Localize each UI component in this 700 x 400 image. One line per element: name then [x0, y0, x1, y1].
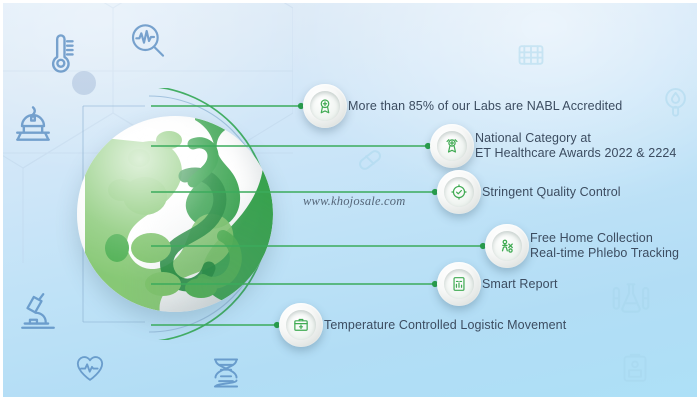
- feature-badge-nabl[interactable]: [303, 84, 347, 128]
- clipboard-report-icon: [618, 351, 652, 385]
- feature-label-nabl: More than 85% of our Labs are NABL Accre…: [348, 99, 622, 114]
- feature-badge-temperature-logistics[interactable]: [279, 303, 323, 347]
- bunsen-burner-icon: [11, 103, 55, 147]
- feature-label-smart-report: Smart Report: [482, 277, 558, 292]
- feature-badge-smart-report[interactable]: [437, 262, 481, 306]
- feature-badge-home-collection[interactable]: [485, 224, 529, 268]
- temperature-controlled-box-icon: [286, 310, 316, 340]
- feature-label-quality: Stringent Quality Control: [482, 185, 621, 200]
- home-collection-phlebo-icon: [492, 231, 522, 261]
- dna-helix-icon: [208, 355, 244, 391]
- globe-graphic: [61, 98, 291, 328]
- globe-continents: [77, 116, 273, 312]
- feature-label-temperature-logistics: Temperature Controlled Logistic Movement: [324, 318, 566, 333]
- magnifier-waveform-icon: [128, 21, 168, 61]
- nabl-accreditation-icon: [310, 91, 340, 121]
- watermark: www.khojosale.com: [303, 194, 405, 209]
- feature-badge-quality[interactable]: [437, 170, 481, 214]
- heart-pulse-icon: [73, 351, 107, 385]
- blood-drop-loupe-icon: [660, 85, 694, 119]
- quality-check-seal-icon: [444, 177, 474, 207]
- feature-label-award: National Category at ET Healthcare Award…: [475, 131, 676, 160]
- infographic-canvas: More than 85% of our Labs are NABL Accre…: [0, 0, 700, 400]
- thermometer-icon: [37, 31, 81, 75]
- feature-badge-award[interactable]: [430, 124, 474, 168]
- capsule-pill-icon: [353, 143, 387, 177]
- smart-report-icon: [444, 269, 474, 299]
- flask-test-tubes-icon: [611, 279, 651, 319]
- feature-label-home-collection: Free Home Collection Real-time Phlebo Tr…: [530, 231, 679, 260]
- dna-sequence-chip-icon: [515, 39, 547, 71]
- globe-sphere: [77, 116, 273, 312]
- award-trophy-icon: [437, 131, 467, 161]
